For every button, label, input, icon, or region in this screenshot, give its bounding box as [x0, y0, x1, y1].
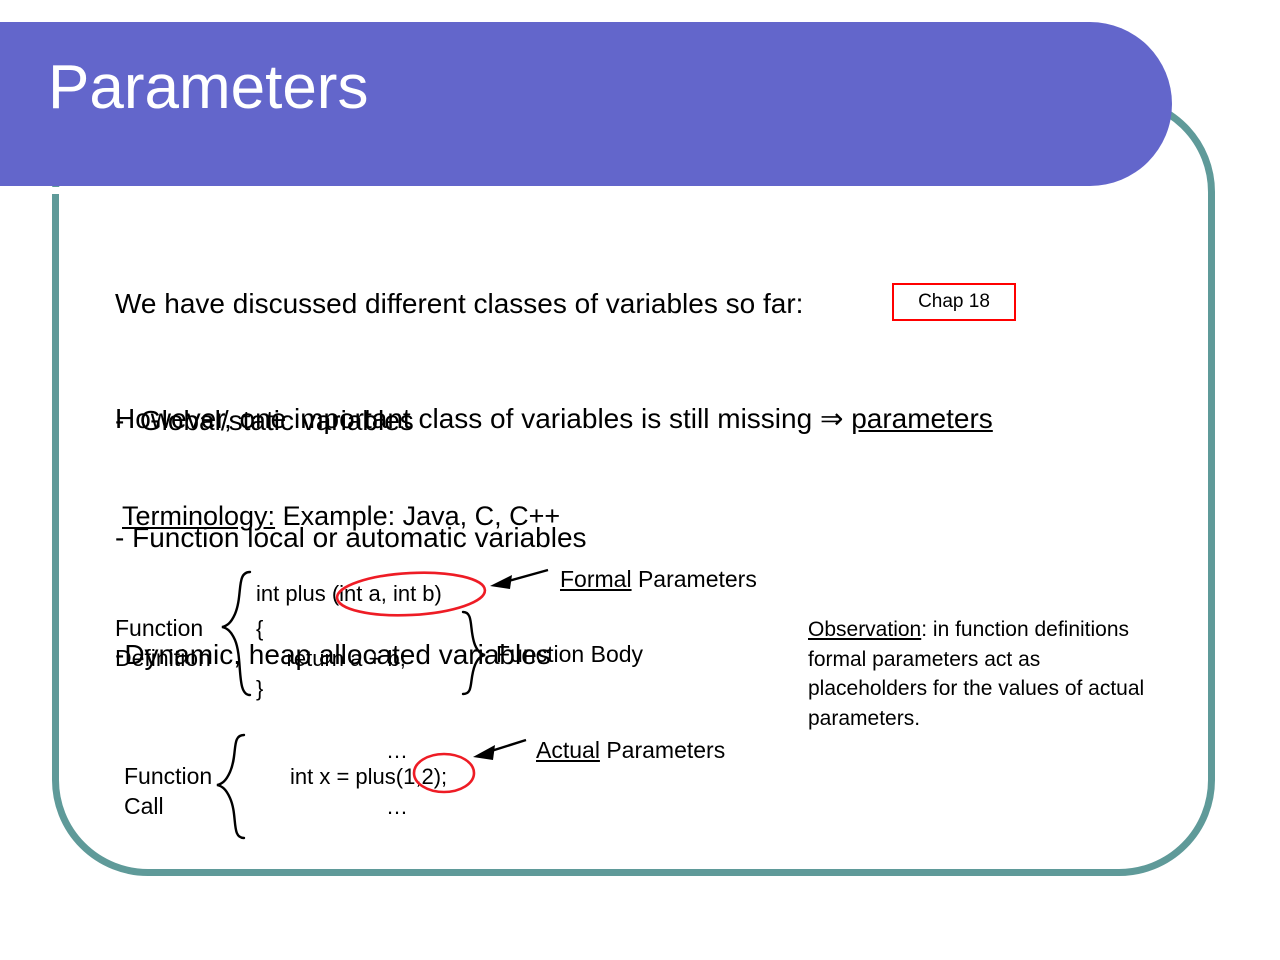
intro-lead: We have discussed different classes of v…	[115, 284, 803, 323]
call-code-line-ellipsis-bottom: …	[386, 791, 408, 822]
formal-parameters-rest: Parameters	[632, 566, 757, 592]
however-line: However, one important class of variable…	[115, 399, 993, 438]
observation-heading: Observation	[808, 618, 921, 641]
def-code-line-return: return a + b;	[256, 643, 406, 674]
actual-parameters-underlined: Actual	[536, 737, 600, 763]
intro-block: We have discussed different classes of v…	[115, 206, 803, 752]
however-emphasis: parameters	[851, 403, 993, 434]
terminology-heading: Terminology:	[122, 501, 275, 531]
def-code-line-open-brace: {	[256, 613, 263, 644]
function-body-label: Function Body	[496, 639, 643, 669]
formal-parameters-label: Formal Parameters	[560, 564, 757, 594]
call-code-line-call: int x = plus(1,2);	[290, 761, 447, 792]
page-title: Parameters	[48, 52, 368, 124]
terminology-line: Terminology: Example: Java, C, C++	[122, 497, 560, 535]
slide-canvas: Parameters We have discussed different c…	[0, 0, 1280, 960]
title-underline-rule	[0, 187, 1118, 194]
formal-parameters-underlined: Formal	[560, 566, 632, 592]
however-prefix: However, one important class of variable…	[115, 403, 820, 434]
actual-parameters-rest: Parameters	[600, 737, 725, 763]
double-arrow-icon: ⇒	[820, 403, 843, 434]
intro-bullet-dynamic: -Dynamic, heap allocated variables	[115, 635, 803, 674]
function-definition-label: Function Definition	[115, 613, 211, 673]
chap-18-callout: Chap 18	[892, 283, 1016, 321]
observation-block: Observation: in function definitions for…	[808, 615, 1158, 733]
actual-parameters-label: Actual Parameters	[536, 735, 725, 765]
function-call-label: Function Call	[124, 761, 212, 821]
terminology-rest: Example: Java, C, C++	[275, 501, 560, 531]
chap-18-label: Chap 18	[918, 291, 990, 313]
def-code-line-signature: int plus (int a, int b)	[256, 578, 442, 609]
def-code-line-close-brace: }	[256, 673, 263, 704]
